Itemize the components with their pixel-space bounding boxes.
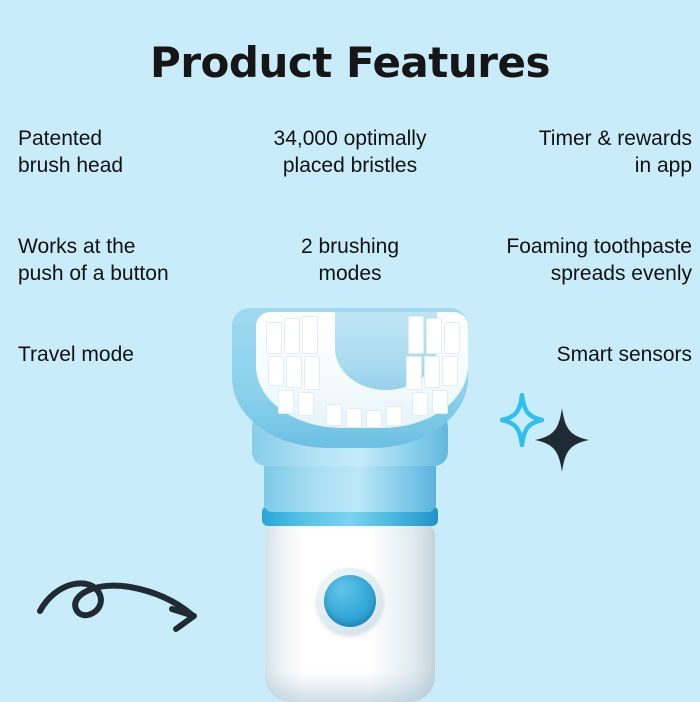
bristle-tuft	[286, 356, 302, 388]
product-features-poster: Product Features Patentedbrush head 34,0…	[0, 0, 700, 700]
bristle-tuft	[302, 316, 318, 354]
feature-line: spreads evenly	[551, 262, 692, 285]
feature-push-of-a-button: Works at thepush of a button	[18, 233, 248, 287]
bristle-tuft	[442, 356, 458, 386]
feature-line: Travel mode	[18, 343, 134, 366]
bristle-tuft	[304, 356, 320, 390]
feature-line: Timer & rewards	[539, 127, 692, 150]
bristle-tuft	[424, 356, 440, 388]
feature-line: Foaming toothpaste	[506, 235, 692, 258]
bristle-tuft	[386, 406, 402, 426]
bristle-tuft	[408, 316, 424, 354]
feature-foaming-toothpaste: Foaming toothpastespreads evenly	[442, 233, 692, 287]
bristle-tuft	[268, 356, 284, 386]
bristle-tuft	[266, 322, 282, 354]
handle-shading	[265, 670, 435, 702]
bristle-tuft	[366, 410, 382, 428]
bristle-tuft	[326, 404, 342, 426]
feature-line: 2 brushing	[301, 235, 399, 258]
feature-line: Patented	[18, 127, 102, 150]
bristle-tuft	[284, 318, 300, 354]
feature-travel-mode: Travel mode	[18, 341, 248, 368]
bristle-tuft	[412, 392, 428, 416]
bristle-tuft	[298, 392, 314, 416]
page-title: Product Features	[0, 38, 700, 87]
feature-timer-rewards: Timer & rewardsin app	[442, 125, 692, 179]
feature-line: modes	[318, 262, 381, 285]
feature-brushing-modes: 2 brushingmodes	[235, 233, 465, 287]
feature-line: push of a button	[18, 262, 169, 285]
bristle-tuft	[426, 318, 442, 354]
bristle-tuft	[406, 356, 422, 390]
feature-patented-brush-head: Patentedbrush head	[18, 125, 248, 179]
arrow-icon	[34, 565, 214, 645]
feature-line: brush head	[18, 154, 123, 177]
feature-line: Works at the	[18, 235, 136, 258]
bristle-tuft	[346, 408, 362, 428]
bristle-tuft	[444, 322, 460, 354]
sparkle-icon	[533, 406, 591, 474]
feature-line: Smart sensors	[557, 343, 692, 366]
mouthpiece-bristle-bed	[256, 312, 468, 428]
power-button[interactable]	[324, 575, 376, 627]
feature-line: 34,000 optimally	[274, 127, 427, 150]
bristle-tuft	[432, 390, 448, 414]
product-image-toothbrush	[220, 300, 480, 700]
feature-bristle-count: 34,000 optimallyplaced bristles	[235, 125, 465, 179]
feature-line: placed bristles	[283, 154, 417, 177]
mouthpiece-outer	[232, 308, 468, 448]
feature-line: in app	[635, 154, 692, 177]
bristle-tuft	[278, 390, 294, 414]
